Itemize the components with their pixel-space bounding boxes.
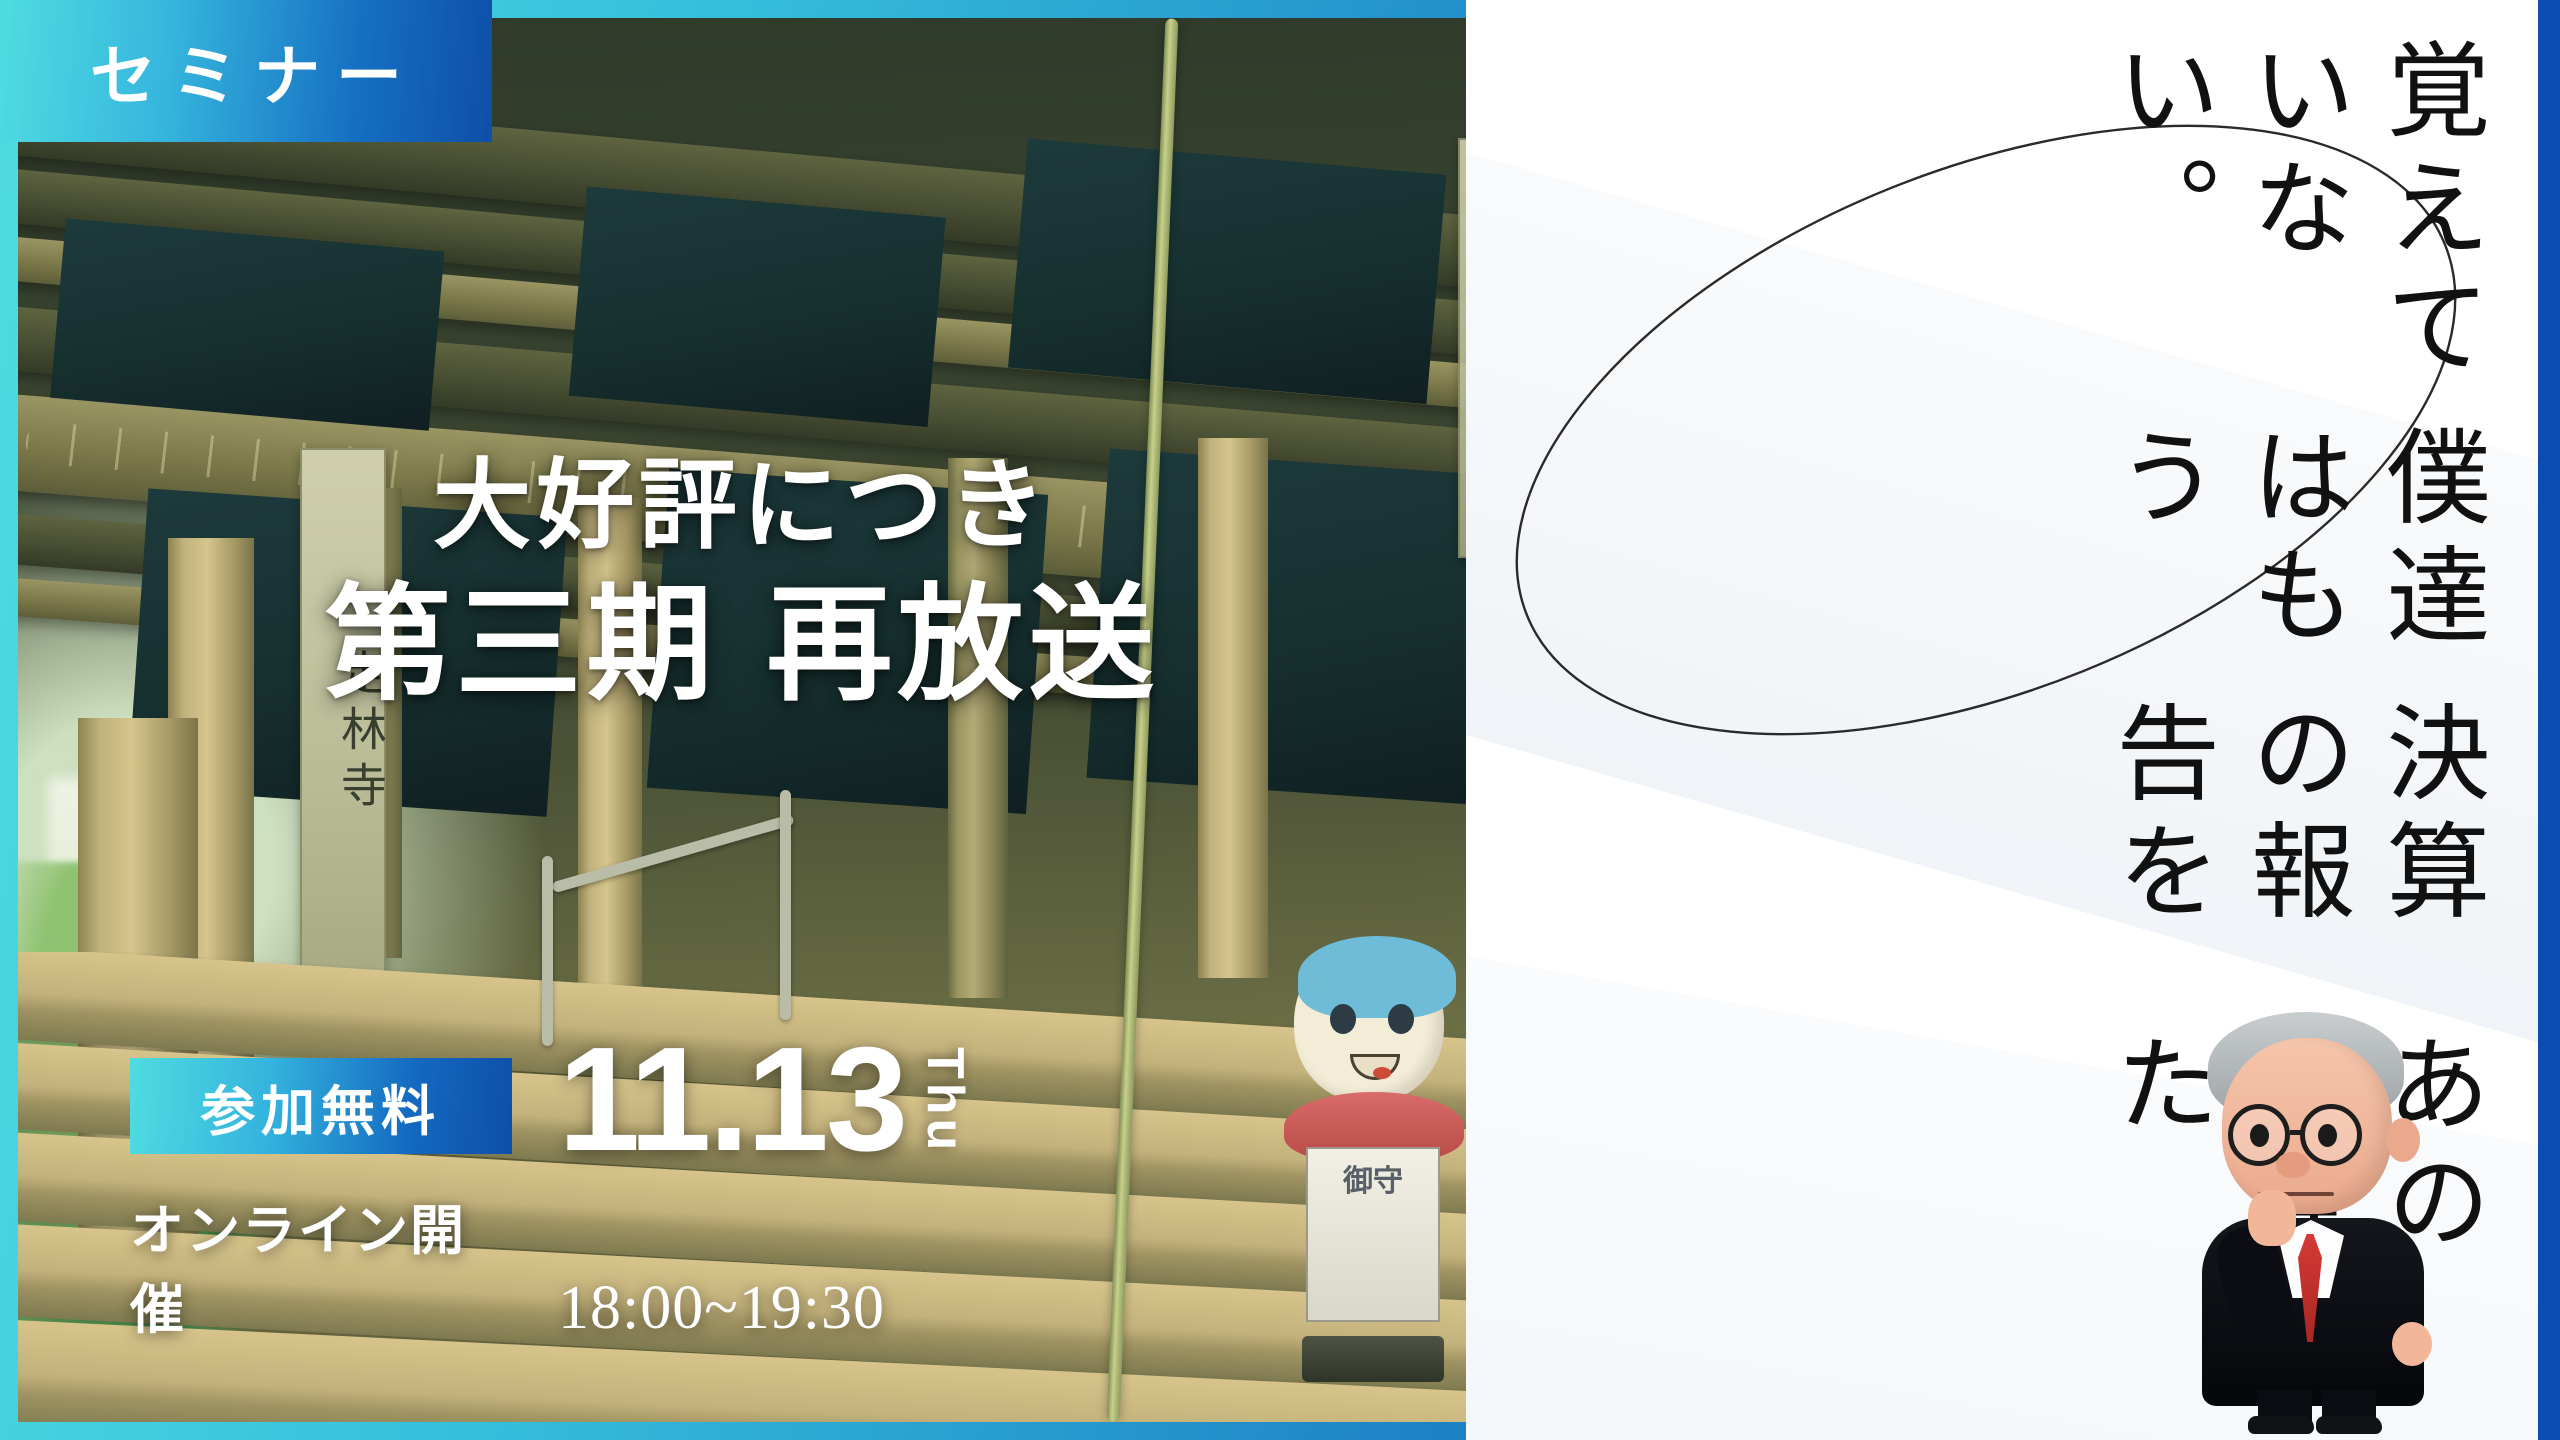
headline-line-1: 大好評につき xyxy=(18,448,1466,564)
businessman-pupil-left xyxy=(2250,1124,2269,1147)
businessman-ear xyxy=(2386,1118,2420,1162)
frame-right-edge xyxy=(2538,0,2560,1440)
businessman-illustration xyxy=(2166,1012,2466,1432)
mascot-eye-right xyxy=(1388,1004,1414,1034)
handrail-post xyxy=(542,856,553,1046)
event-info-row-primary: 参加無料 11.13 Thu xyxy=(130,1039,975,1160)
recess-panel xyxy=(50,218,444,430)
businessman-pupil-right xyxy=(2318,1124,2337,1147)
glasses-bridge xyxy=(2290,1130,2302,1135)
copy-column-3: 僕達はもう xyxy=(2090,423,2496,699)
mascot-head xyxy=(1294,942,1444,1102)
copy-column-2: 決算の報告を xyxy=(2090,699,2496,1030)
mascot-eye-left xyxy=(1330,1004,1356,1034)
recess-panel xyxy=(569,186,946,427)
free-admission-label: 参加無料 xyxy=(201,1067,441,1146)
event-time: 18:00~19:30 xyxy=(558,1273,885,1344)
mascot-mouth xyxy=(1350,1054,1400,1080)
event-info-row-secondary: オンライン開催 18:00~19:30 xyxy=(130,1186,975,1344)
mascot-base xyxy=(1302,1336,1444,1382)
seminar-badge-label: セミナー xyxy=(74,23,418,119)
event-weekday: Thu xyxy=(915,1047,975,1154)
free-admission-badge: 参加無料 xyxy=(130,1058,512,1154)
mascot-sign-text: 御守 xyxy=(1318,1163,1428,1306)
event-date: 11.13 xyxy=(558,1039,905,1160)
businessman-shoe-left xyxy=(2248,1416,2314,1434)
businessman-hand-side xyxy=(2392,1322,2432,1366)
page-title: 大好評につき 第三期 再放送 xyxy=(18,448,1466,718)
headline-line-2: 第三期 再放送 xyxy=(18,570,1466,719)
event-info-block: 参加無料 11.13 Thu オンライン開催 18:00~19:30 xyxy=(130,1039,975,1344)
mascot-hair xyxy=(1298,936,1456,1018)
mascot-doll: 御守 xyxy=(1286,942,1466,1382)
seminar-banner: 定林寺 奉納 xyxy=(0,0,2560,1440)
copy-column-4: 覚えていない。 xyxy=(2090,36,2496,423)
recess-panel xyxy=(1008,138,1446,404)
temple-photo-panel: 定林寺 奉納 xyxy=(18,18,1466,1422)
event-date-wrap: 11.13 Thu xyxy=(558,1039,975,1160)
businessman-shoe-right xyxy=(2316,1416,2382,1434)
copy-panel: 覚えていない。 僕達はもう 決算の報告を あの日見た xyxy=(1466,0,2538,1440)
businessman-hand-chin xyxy=(2248,1190,2296,1246)
event-venue: オンライン開催 xyxy=(130,1186,512,1344)
handrail-post xyxy=(780,790,791,1020)
mascot-body-sign: 御守 xyxy=(1306,1147,1440,1322)
businessman-nose xyxy=(2276,1152,2310,1178)
seminar-category-badge: セミナー xyxy=(0,0,492,142)
mascot-tongue xyxy=(1373,1067,1391,1079)
